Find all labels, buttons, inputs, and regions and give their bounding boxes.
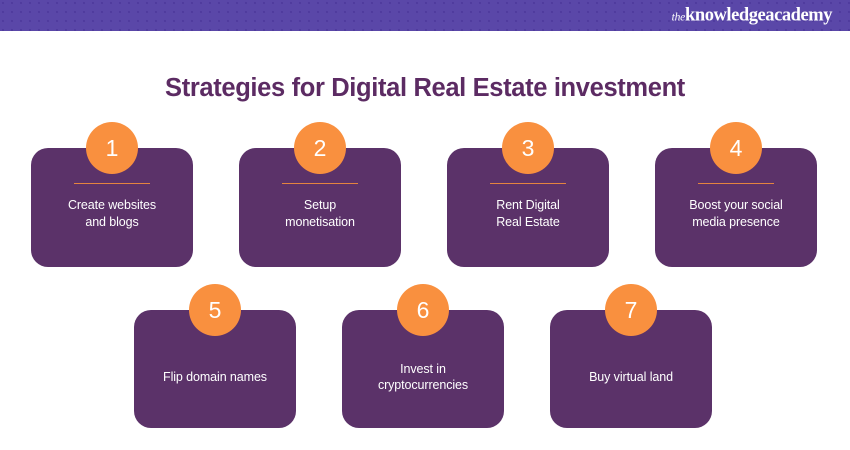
step-card-2: 2Setup monetisation — [239, 148, 401, 267]
step-label: Setup monetisation — [275, 197, 365, 230]
step-number-badge: 2 — [294, 122, 346, 174]
step-label: Boost your social media presence — [679, 197, 793, 230]
step-card-1: 1Create websites and blogs — [31, 148, 193, 267]
step-row-bottom: 5Flip domain names6Invest in cryptocurre… — [134, 310, 716, 428]
step-divider — [282, 183, 358, 184]
step-number-badge: 1 — [86, 122, 138, 174]
step-divider — [490, 183, 566, 184]
step-number-badge: 5 — [189, 284, 241, 336]
step-label: Rent Digital Real Estate — [486, 197, 570, 230]
step-number-badge: 7 — [605, 284, 657, 336]
step-label: Flip domain names — [153, 369, 277, 386]
step-number-badge: 3 — [502, 122, 554, 174]
header-band: theknowledgeacademy — [0, 0, 850, 31]
brand-logo-name: knowledgeacademy — [685, 5, 832, 25]
brand-logo: theknowledgeacademy — [672, 6, 832, 25]
step-row-top: 1Create websites and blogs2Setup monetis… — [31, 148, 819, 267]
step-label: Invest in cryptocurrencies — [368, 361, 478, 394]
step-card-7: 7Buy virtual land — [550, 310, 712, 428]
step-divider — [698, 183, 774, 184]
step-divider — [74, 183, 150, 184]
step-card-5: 5Flip domain names — [134, 310, 296, 428]
step-number-badge: 4 — [710, 122, 762, 174]
step-label: Buy virtual land — [579, 369, 683, 386]
step-card-4: 4Boost your social media presence — [655, 148, 817, 267]
brand-logo-prefix: the — [672, 11, 685, 23]
step-card-3: 3Rent Digital Real Estate — [447, 148, 609, 267]
step-number-badge: 6 — [397, 284, 449, 336]
page-title: Strategies for Digital Real Estate inves… — [0, 74, 850, 103]
step-label: Create websites and blogs — [58, 197, 166, 230]
step-card-6: 6Invest in cryptocurrencies — [342, 310, 504, 428]
